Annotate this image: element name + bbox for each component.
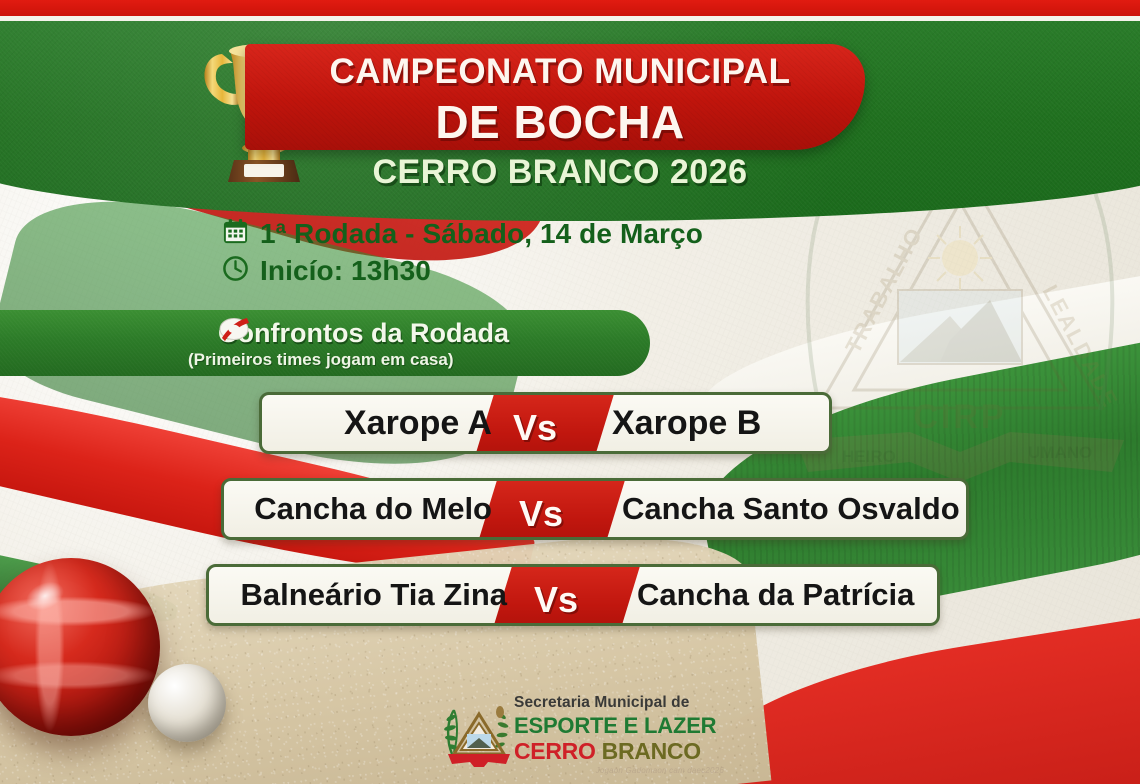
title-line-1: CAMPEONATO MUNICIPAL	[230, 52, 890, 92]
confrontos-ribbon: Confrontos da Rodada (Primeiros times jo…	[0, 310, 650, 376]
confrontos-subtitle: (Primeiros times jogam em casa)	[188, 350, 618, 370]
footer-cerro-word: CERRO	[514, 738, 602, 764]
cerro-branco-coat-of-arms-icon	[440, 698, 518, 768]
match-away-team: Cancha Santo Osvaldo	[622, 491, 966, 527]
footer-branco-word: BRANCO	[602, 738, 701, 764]
confrontos-title: Confrontos da Rodada	[218, 318, 618, 349]
vs-label: Vs	[513, 407, 557, 449]
event-date-row: 1ª Rodada - Sábado, 14 de Março	[222, 218, 703, 250]
match-card[interactable]: Balneário Tia Zina Vs Cancha da Patrícia	[206, 564, 940, 626]
match-home-team: Cancha do Melo	[232, 491, 492, 527]
bocha-pallino-white	[148, 664, 226, 742]
footer-line-2: ESPORTE E LAZER	[514, 713, 724, 739]
title-line-2: DE BOCHA	[230, 95, 890, 149]
match-away-team: Cancha da Patrícia	[637, 577, 937, 613]
match-away-team: Xarope B	[612, 404, 832, 443]
bocha-ball-icon	[218, 316, 250, 347]
event-time-row: Inicío: 13h30	[222, 255, 703, 287]
vs-label: Vs	[519, 493, 563, 535]
footer-tagline: Jogaon Gadomaon cam daec2026	[514, 766, 724, 775]
clock-icon	[222, 255, 249, 287]
match-card[interactable]: Xarope A Vs Xarope B	[259, 392, 832, 454]
footer-line-3: CERRO BRANCO	[514, 738, 724, 765]
footer-logo-text: Secretaria Municipal de ESPORTE E LAZER …	[514, 694, 724, 775]
match-home-team: Xarope A	[272, 404, 492, 443]
confrontos-text-group: Confrontos da Rodada (Primeiros times jo…	[218, 318, 618, 370]
footer-line-1: Secretaria Municipal de	[514, 694, 724, 712]
title-line-3: CERRO BRANCO 2026	[230, 153, 890, 192]
poster-title: CAMPEONATO MUNICIPAL DE BOCHA CERRO BRAN…	[230, 0, 890, 200]
event-date-text: 1ª Rodada - Sábado, 14 de Março	[260, 218, 703, 250]
event-info-block: 1ª Rodada - Sábado, 14 de Março Inicío: …	[222, 218, 703, 292]
match-home-team: Balneário Tia Zina	[217, 577, 507, 613]
vs-label: Vs	[534, 579, 578, 621]
poster-canvas: CIRP TRABALHO LEALDADE HEIRO UMANO	[0, 0, 1140, 784]
calendar-icon	[222, 218, 249, 250]
footer-logo: Secretaria Municipal de ESPORTE E LAZER …	[440, 694, 715, 772]
match-card[interactable]: Cancha do Melo Vs Cancha Santo Osvaldo	[221, 478, 969, 540]
event-time-text: Inicío: 13h30	[260, 255, 431, 287]
